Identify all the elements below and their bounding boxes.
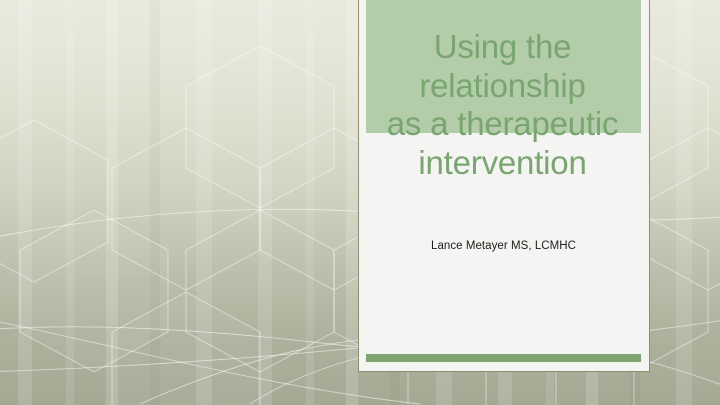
slide-subtitle: Lance Metayer MS, LCMHC — [366, 240, 641, 252]
accent-bar — [366, 354, 641, 362]
presentation-slide: Using the relationship as a therapeutic … — [0, 0, 720, 405]
slide-title: Using the relationship as a therapeutic … — [330, 28, 675, 182]
